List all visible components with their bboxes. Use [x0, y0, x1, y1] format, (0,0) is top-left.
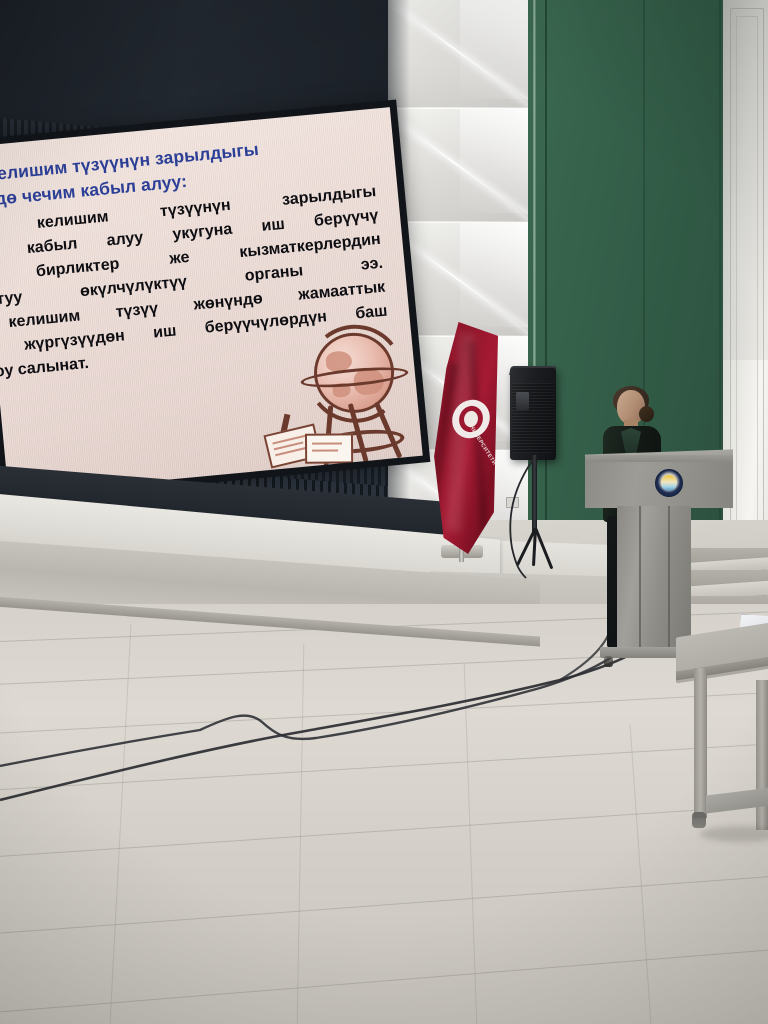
- flag-band: КЫРГЫЗ УНИВЕРСИТЕТИ: [437, 422, 499, 474]
- podium-caster: [604, 656, 613, 667]
- table-caster: [692, 812, 706, 828]
- auditorium-photo: тык келишим түзүүнүн зарылдыгы өнүндө че…: [0, 0, 768, 1024]
- led-screen-slide: тык келишим түзүүнүн зарылдыгы өнүндө че…: [0, 106, 426, 496]
- globe-and-books-icon: [279, 306, 421, 467]
- podium-emblem: [655, 469, 683, 497]
- hair-bun: [639, 406, 654, 422]
